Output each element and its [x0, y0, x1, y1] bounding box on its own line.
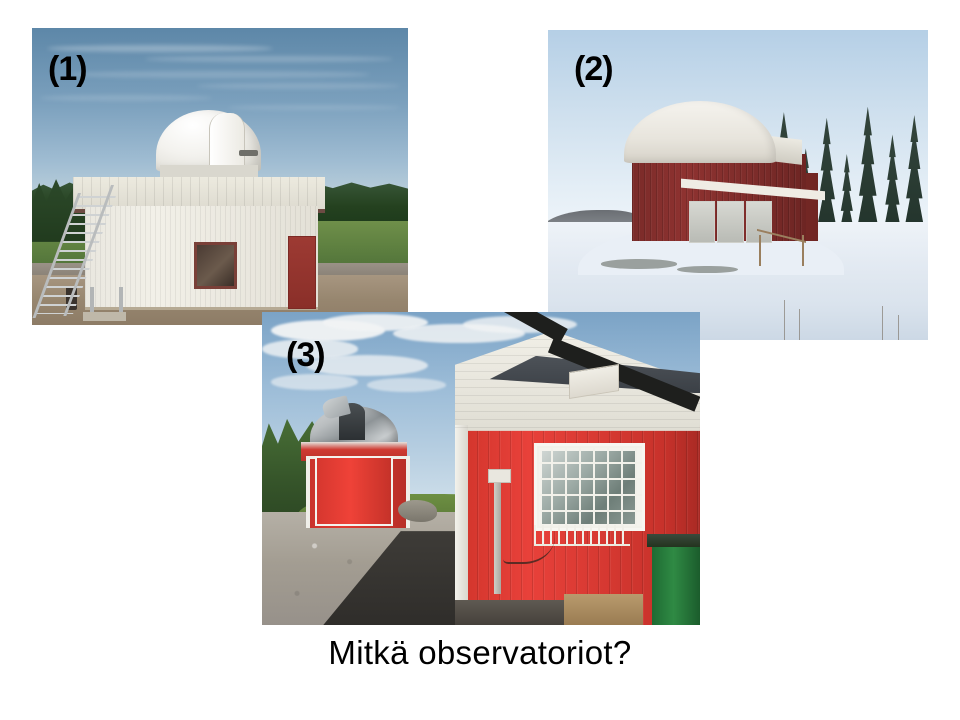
twig [898, 315, 899, 340]
wooden-handrail [757, 235, 806, 266]
handrail-post [802, 235, 804, 266]
external-staircase [73, 185, 156, 316]
cloud [367, 378, 446, 392]
snow-brush [601, 259, 677, 268]
photo-2-red-rolloff-observatory[interactable]: (2) [548, 30, 928, 340]
building-door [288, 236, 316, 309]
barn-door [717, 201, 744, 243]
spruce-tree [901, 115, 928, 238]
photo-label-3: (3) [286, 338, 325, 372]
cloud-streak [197, 83, 400, 89]
dome-building-door [315, 456, 393, 526]
cloud-streak [70, 71, 371, 78]
handrail-post [759, 235, 761, 266]
boulder [398, 500, 437, 522]
cloud-streak [145, 56, 393, 62]
dome-shutter [209, 113, 245, 166]
twig [882, 306, 883, 340]
photo-3-scene [262, 312, 700, 625]
cloud-streak [40, 95, 213, 101]
slide-caption: Mitkä observatoriot? [0, 634, 960, 672]
building-window [194, 242, 238, 290]
barn-door [689, 201, 716, 243]
photo-label-1: (1) [48, 52, 87, 86]
cloud [271, 374, 359, 390]
wooden-step [564, 594, 643, 625]
photo-1-scene [32, 28, 408, 325]
twig [784, 300, 785, 340]
wall-lamp [488, 469, 512, 484]
down-pipe [494, 481, 501, 594]
photo-label-2: (2) [574, 52, 613, 86]
spruce-tree [853, 107, 882, 238]
corner-trim [455, 425, 468, 625]
barred-window [534, 443, 645, 530]
green-wheelie-bin [652, 540, 700, 625]
slide-canvas: (1) [0, 0, 960, 720]
cloud-streak [228, 105, 401, 110]
photo-3-red-building-silver-dome[interactable]: (3) [262, 312, 700, 625]
window-security-bars [537, 446, 642, 527]
wheelie-bin-lid [647, 534, 700, 547]
dome-vent [239, 150, 258, 157]
twig [799, 309, 800, 340]
photo-1-white-dome-observatory[interactable]: (1) [32, 28, 408, 325]
stair-footing [83, 312, 126, 321]
